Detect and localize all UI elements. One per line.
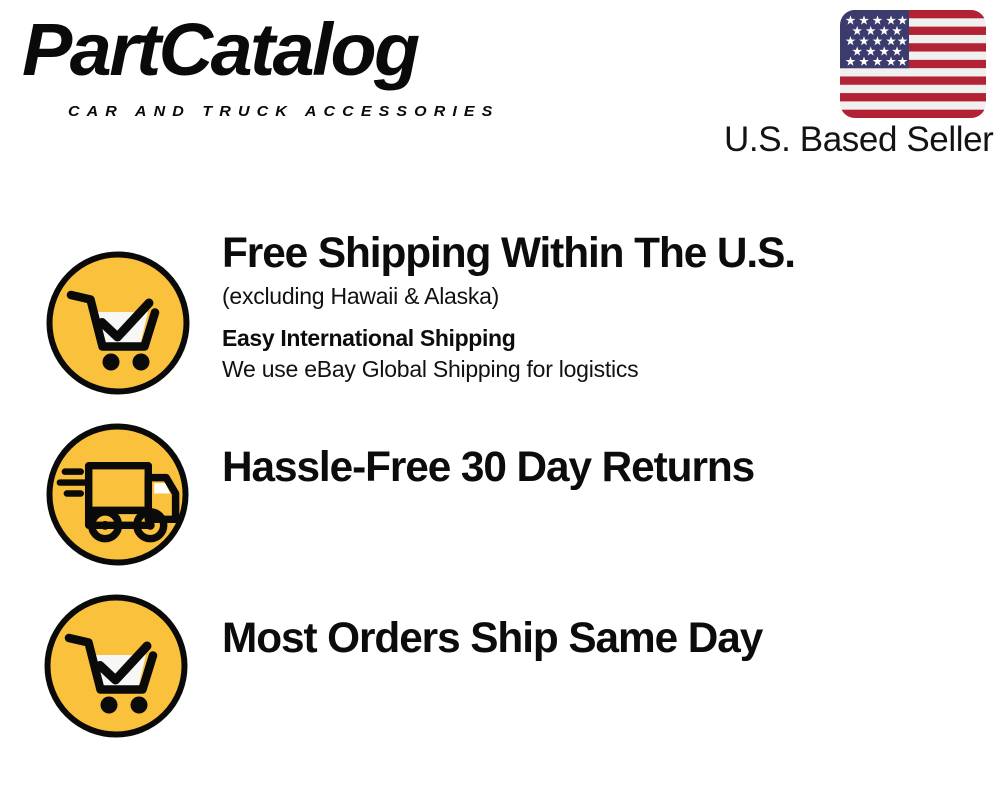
feature-subtitle-detail: We use eBay Global Shipping for logistic…	[222, 356, 962, 383]
us-flag-icon	[840, 10, 986, 118]
feature-subtitle: (excluding Hawaii & Alaska)	[222, 283, 962, 310]
feature-text-block: Free Shipping Within The U.S. (excluding…	[222, 232, 962, 383]
feature-title: Free Shipping Within The U.S.	[222, 232, 951, 276]
logo-tagline: CAR AND TRUCK ACCESSORIES	[68, 104, 499, 121]
shopping-cart-check-icon	[43, 593, 189, 739]
feature-title: Most Orders Ship Same Day	[222, 617, 951, 661]
feature-row: Most Orders Ship Same Day	[0, 575, 1000, 755]
delivery-truck-icon	[45, 422, 190, 567]
feature-text-block: Most Orders Ship Same Day	[222, 617, 962, 661]
feature-subtitle-strong: Easy International Shipping	[222, 325, 962, 352]
partcatalog-logo: PartCatalog CAR AND TRUCK ACCESSORIES	[22, 16, 492, 121]
logo-wordmark: PartCatalog	[22, 12, 418, 87]
feature-text-block: Hassle-Free 30 Day Returns	[222, 446, 962, 490]
feature-row: Free Shipping Within The U.S. (excluding…	[0, 232, 1000, 412]
feature-row: Hassle-Free 30 Day Returns	[0, 404, 1000, 584]
feature-title: Hassle-Free 30 Day Returns	[222, 446, 951, 490]
us-based-seller-label: U.S. Based Seller	[724, 120, 986, 160]
shipping-info-banner: PartCatalog CAR AND TRUCK ACCESSORIES	[0, 0, 1000, 800]
shopping-cart-check-icon	[45, 250, 191, 396]
